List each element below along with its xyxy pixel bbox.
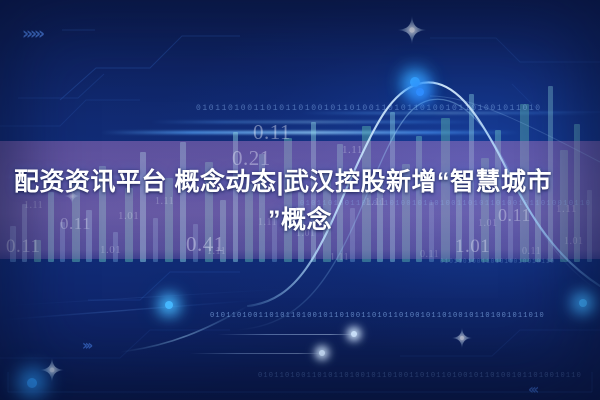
sparkle-bottom-right-icon (451, 327, 473, 349)
scatter-number: 1.11 (342, 144, 363, 156)
glow-dot-curve-peak (410, 77, 420, 87)
flow-line (218, 334, 358, 335)
headline-line-2: ”概念 (14, 201, 586, 239)
sparkle-top-right-icon (397, 15, 427, 45)
scatter-number: 1.01 (455, 236, 490, 258)
scatter-number: 1.11 (330, 252, 349, 263)
scatter-number: 0.11 (522, 246, 541, 257)
flow-line (190, 353, 325, 354)
light-streak (300, 112, 600, 114)
glow-dot-right-edge (579, 299, 587, 307)
binary-row: 0101101001101011010010110100110101101001… (196, 104, 542, 113)
scatter-number: 0.11 (253, 120, 291, 145)
glow-dot-top-right (416, 88, 424, 96)
chevron-bottom-right-icon: ‹‹‹ (528, 382, 536, 398)
scatter-number: 1.01 (100, 244, 121, 256)
glow-dot-bottom-left (27, 378, 37, 388)
glow-dot-line-end-1 (351, 331, 357, 337)
page-title: 配资资讯平台 概念动态|武汉控股新增“智慧城市 ”概念 (14, 163, 586, 239)
scatter-number: 1.11 (207, 246, 226, 257)
light-streak (100, 131, 520, 134)
chart-bar (587, 190, 592, 262)
glow-dot-bottom-mid (165, 301, 173, 309)
chart-bar (34, 240, 41, 262)
binary-row: 0101101001101011010010110100110101101001… (258, 372, 582, 380)
banner-image: 0.110.211.111.110.111.110.411.010.110.11… (0, 0, 600, 400)
binary-row: 0101101001101011010010110100110101101001… (210, 312, 545, 320)
headline-line-1: 配资资讯平台 概念动态|武汉控股新增“智慧城市 (14, 168, 552, 196)
chevron-top-left-icon: ››››› (22, 24, 42, 44)
light-streak (150, 121, 480, 123)
glow-dot-line-end-2 (319, 350, 325, 356)
scatter-number: 0.11 (6, 236, 41, 258)
sparkle-bottom-left-icon (39, 357, 65, 383)
chevron-bottom-left-icon: ››› (82, 338, 90, 354)
binary-row: 0101101001101011010010110 (440, 258, 555, 265)
scatter-number: 0.11 (420, 249, 439, 260)
